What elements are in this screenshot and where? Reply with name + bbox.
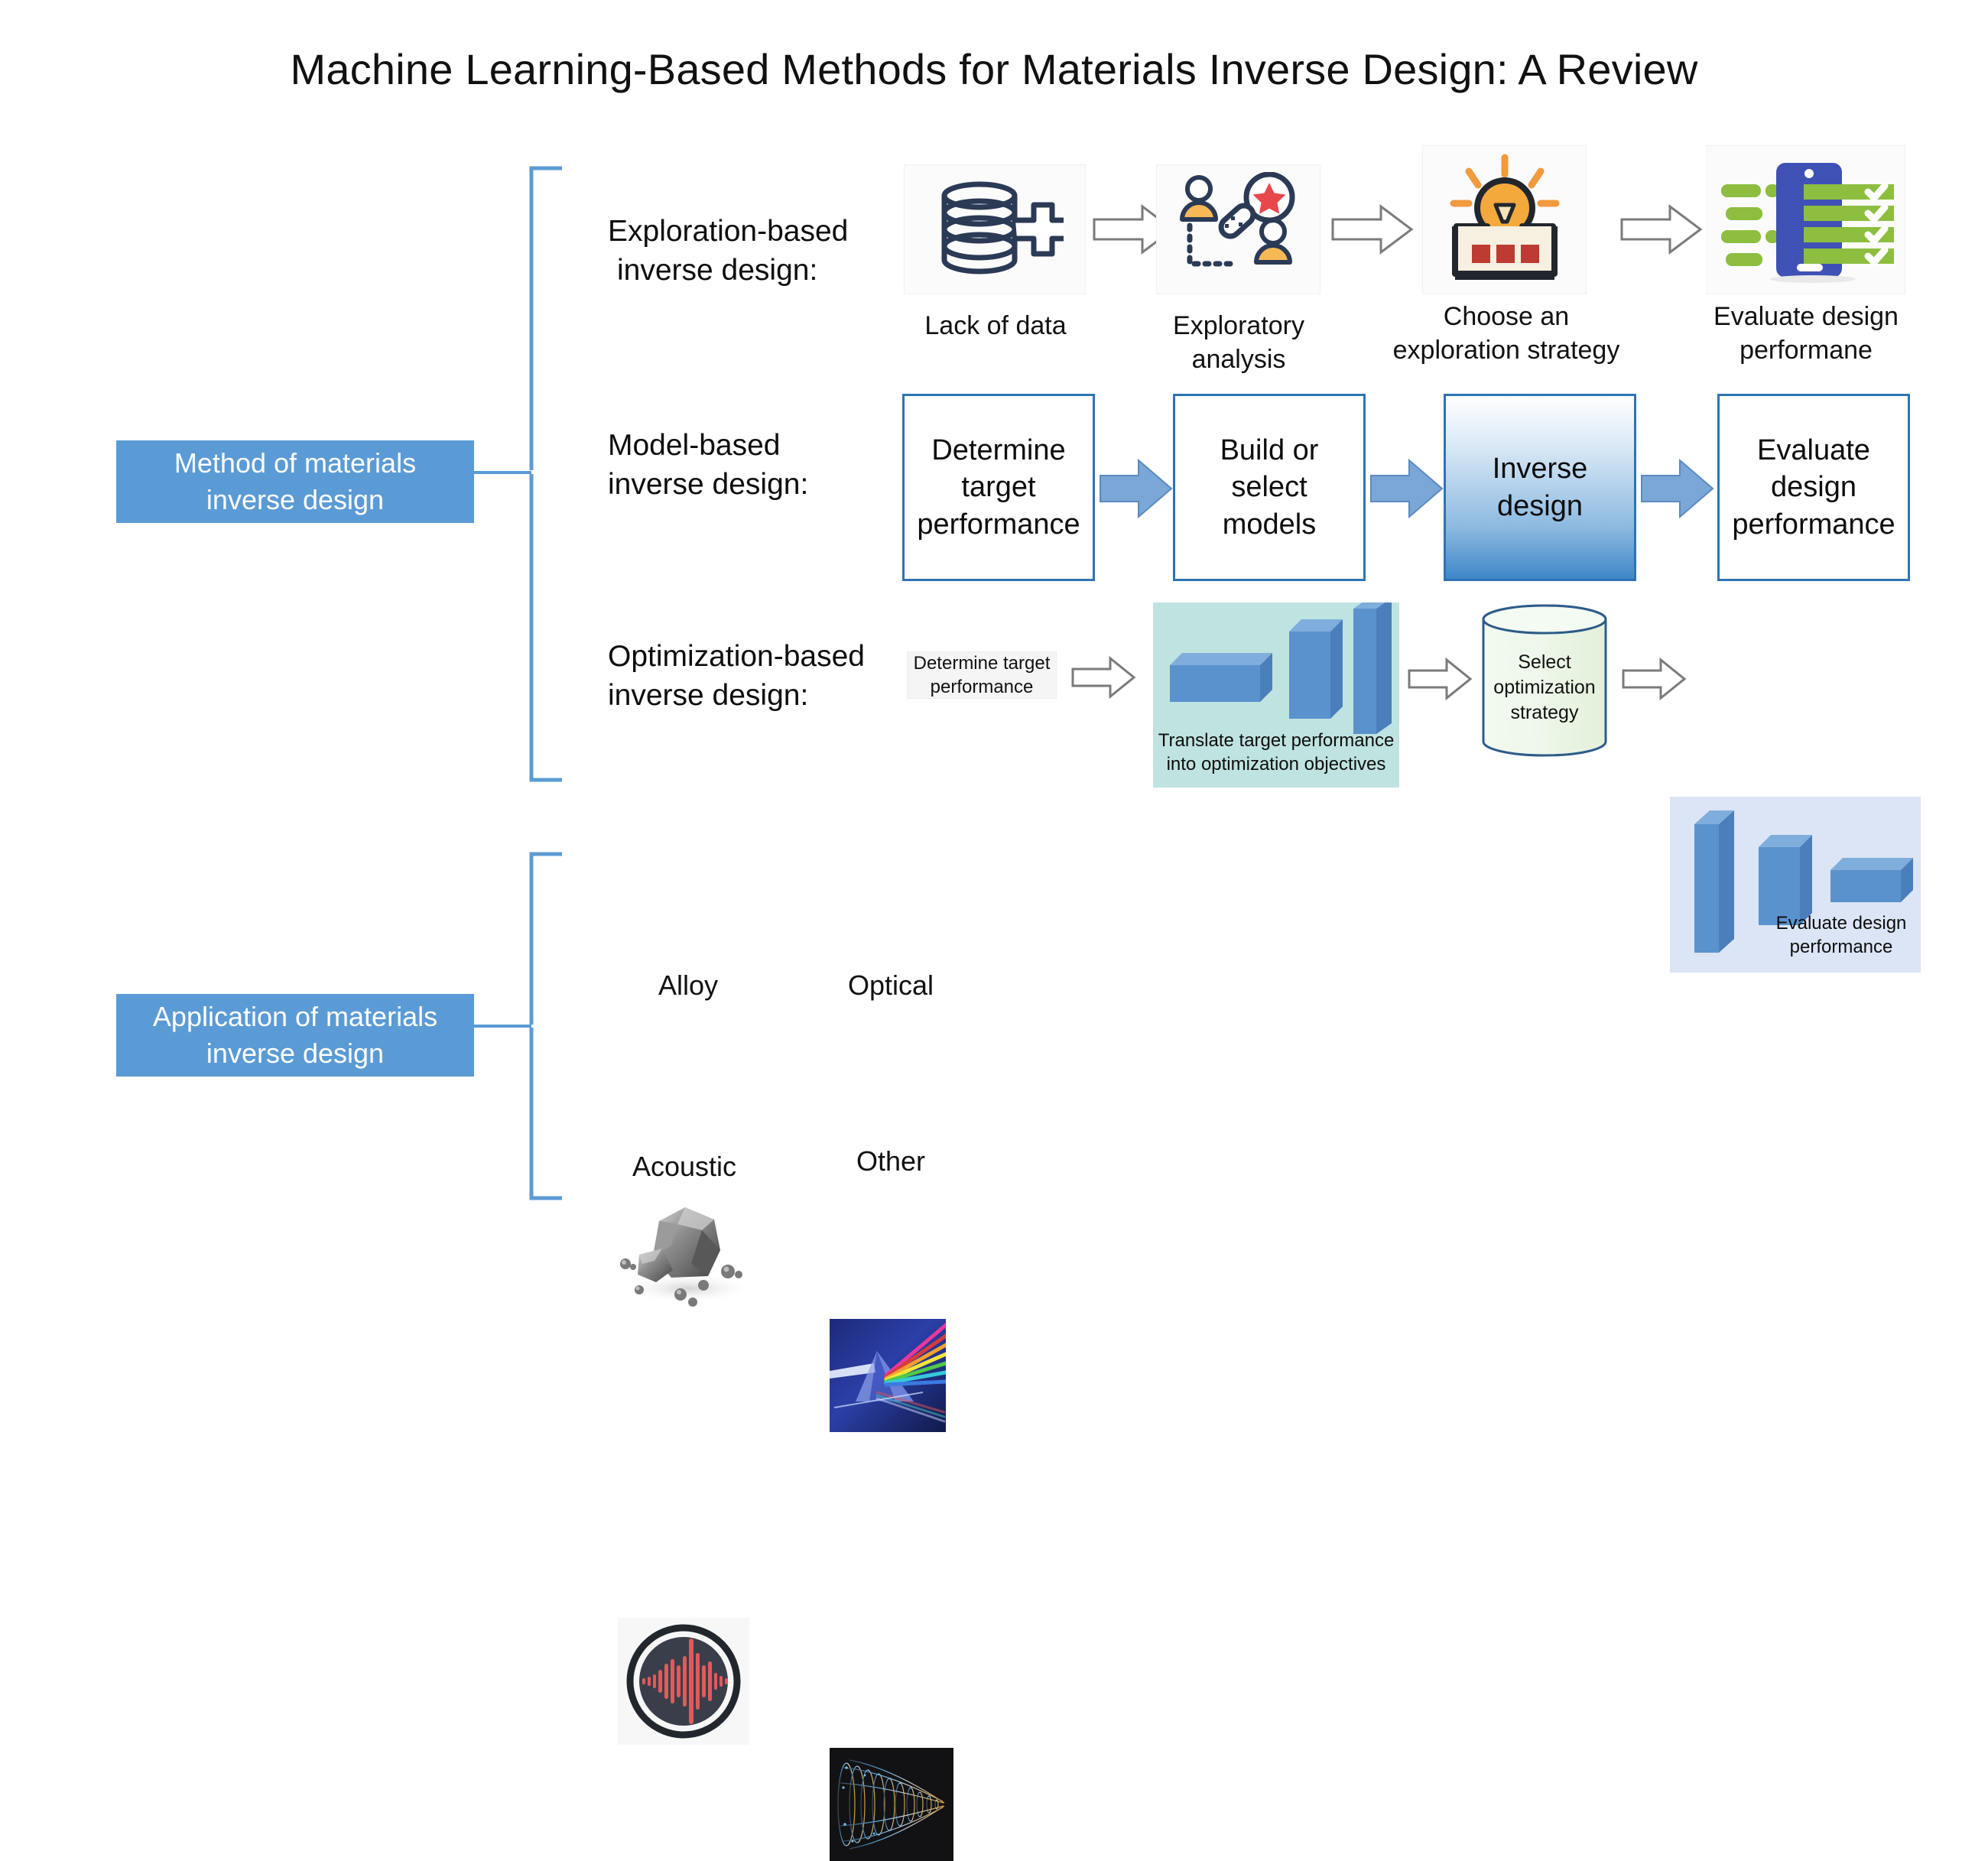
model-step-1-line3: performance <box>917 506 1080 544</box>
model-step-3-line2: design <box>1493 488 1588 525</box>
caption-line1: Exploratory <box>1124 310 1353 343</box>
carbon-nanotube-image <box>830 1748 953 1861</box>
model-step-box-3[interactable]: Inverse design <box>1444 394 1636 581</box>
caption-line1: Lack of data <box>873 310 1118 343</box>
opt-step4-line1: Evaluate design <box>1762 911 1921 935</box>
caption-line2: exploration strategy <box>1346 334 1667 368</box>
row-label-model-line1: Model-based <box>608 426 883 465</box>
caption-line2: analysis <box>1124 343 1353 377</box>
people-magnifier-star-icon <box>1171 172 1305 287</box>
model-step-4-line3: performance <box>1732 506 1895 544</box>
opt-step3-line2: optimization <box>1477 675 1612 700</box>
icon-caption-exploratory-analysis: Exploratory analysis <box>1124 310 1353 376</box>
caption-line2: performane <box>1691 334 1921 368</box>
row-label-optimization: Optimization-based inverse design: <box>608 637 914 716</box>
page-title: Machine Learning-Based Methods for Mater… <box>0 44 1988 94</box>
row-label-optimization-line2: inverse design: <box>608 676 914 715</box>
application-thumb-other[interactable] <box>830 1748 953 1861</box>
icon-card-evaluate-design[interactable] <box>1707 145 1905 294</box>
opt-step1-line2: performance <box>914 675 1051 699</box>
sound-waveform-icon <box>618 1618 749 1745</box>
optimization-arrow-1 <box>1070 656 1136 699</box>
model-step-2-line2: select <box>1220 469 1319 506</box>
metal-chunks-image <box>612 1190 765 1320</box>
prism-dispersion-image <box>830 1319 946 1432</box>
application-thumb-acoustic[interactable] <box>618 1618 749 1745</box>
optimization-cylinder-caption: Select optimization strategy <box>1477 650 1612 726</box>
model-arrow-2 <box>1369 459 1444 518</box>
opt-step3-line1: Select <box>1477 650 1612 675</box>
model-step-2-line3: models <box>1220 506 1319 544</box>
caption-line1: Evaluate design <box>1691 300 1921 334</box>
row-label-exploration-line2: inverse design: <box>608 251 883 290</box>
model-step-2-line1: Build or <box>1220 432 1319 469</box>
lightbulb-panel-icon <box>1432 151 1577 289</box>
flow-arrow-2 <box>1330 203 1415 256</box>
category-application-line1: Application of materials <box>153 999 437 1035</box>
icon-caption-lack-of-data: Lack of data <box>873 310 1118 343</box>
icon-card-exploration-strategy[interactable] <box>1422 145 1587 294</box>
optimization-panel-translate[interactable]: Translate target performance into optimi… <box>1153 602 1399 788</box>
model-step-1-line2: target <box>917 469 1080 506</box>
row-label-model-line2: inverse design: <box>608 465 883 504</box>
opt-step2-line1: Translate target performance <box>1153 729 1399 752</box>
bar3d-group-icon <box>1153 602 1399 740</box>
application-caption-other: Other <box>818 1145 963 1177</box>
icon-card-exploratory-analysis[interactable] <box>1156 164 1320 294</box>
tablet-checklist-icon <box>1718 157 1894 283</box>
optimization-step-determine-target[interactable]: Determine target performance <box>907 651 1057 699</box>
row-label-exploration-line1: Exploration-based <box>608 212 883 251</box>
opt-step2-line2: into optimization objectives <box>1153 752 1399 776</box>
category-method-line1: Method of materials <box>174 445 416 482</box>
brace-application <box>474 850 573 1202</box>
optimization-arrow-3 <box>1621 658 1687 700</box>
application-thumb-optical[interactable] <box>830 1319 946 1432</box>
opt-step1-line1: Determine target <box>914 651 1051 675</box>
flow-arrow-3 <box>1619 203 1704 256</box>
row-label-model: Model-based inverse design: <box>608 426 883 505</box>
model-step-box-2[interactable]: Build or select models <box>1173 394 1366 581</box>
category-method-line2: inverse design <box>206 482 384 518</box>
application-thumb-alloy[interactable] <box>612 1190 765 1320</box>
optimization-cylinder-select-strategy[interactable]: Select optimization strategy <box>1477 604 1612 757</box>
application-caption-acoustic: Acoustic <box>604 1151 765 1183</box>
database-plus-icon <box>926 176 1064 283</box>
brace-method <box>474 164 573 784</box>
optimization-arrow-2 <box>1407 658 1473 700</box>
optimization-panel-evaluate-caption: Evaluate design performance <box>1762 911 1921 959</box>
row-label-optimization-line1: Optimization-based <box>608 637 914 676</box>
model-arrow-1 <box>1099 459 1173 518</box>
icon-caption-exploration-strategy: Choose an exploration strategy <box>1399 300 1613 367</box>
category-application-line2: inverse design <box>206 1035 384 1072</box>
model-arrow-3 <box>1640 459 1714 518</box>
model-step-3-line1: Inverse <box>1493 450 1588 488</box>
icon-card-lack-of-data[interactable] <box>904 164 1086 294</box>
model-step-box-1[interactable]: Determine target performance <box>902 394 1095 581</box>
opt-step3-line3: strategy <box>1477 700 1612 726</box>
row-label-exploration: Exploration-based inverse design: <box>608 212 883 291</box>
optimization-panel-evaluate[interactable]: Evaluate design performance <box>1670 797 1921 973</box>
model-step-4-line1: Evaluate <box>1732 432 1895 469</box>
application-caption-alloy: Alloy <box>612 969 765 1002</box>
model-step-1-line1: Determine <box>917 432 1080 469</box>
optimization-panel-translate-caption: Translate target performance into optimi… <box>1153 729 1399 776</box>
caption-line1: Choose an <box>1399 300 1613 334</box>
model-step-box-4[interactable]: Evaluate design performance <box>1717 394 1910 581</box>
category-box-application[interactable]: Application of materials inverse design <box>116 994 474 1077</box>
application-caption-optical: Optical <box>822 969 960 1002</box>
model-step-4-line2: design <box>1732 469 1895 506</box>
category-box-method[interactable]: Method of materials inverse design <box>116 440 474 523</box>
opt-step4-line2: performance <box>1762 935 1921 959</box>
icon-caption-evaluate-design: Evaluate design performane <box>1691 300 1921 367</box>
